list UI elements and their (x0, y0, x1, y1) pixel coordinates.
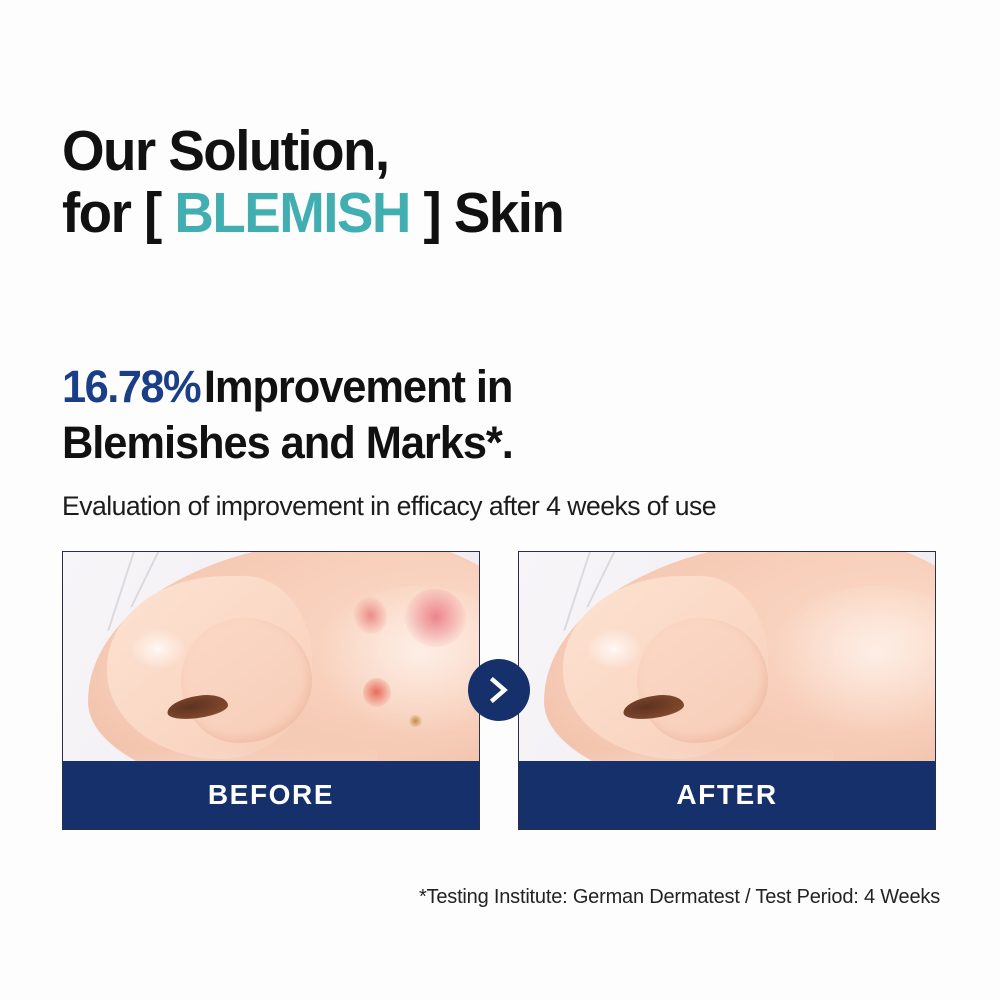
blemish-mark (363, 678, 391, 707)
chevron-right-icon (487, 677, 511, 703)
after-photo (519, 552, 935, 763)
before-label: BEFORE (208, 779, 334, 811)
stat-headline: 16.78%Improvement in Blemishes and Marks… (62, 359, 911, 471)
stat-line-2: Blemishes and Marks*. (62, 415, 911, 471)
after-panel: AFTER (518, 551, 936, 830)
blemish-mark (409, 715, 421, 727)
stat-percentage: 16.78% (62, 361, 200, 412)
before-panel: BEFORE (62, 551, 480, 830)
headline-suffix: ] Skin (410, 181, 563, 245)
after-label-band: AFTER (519, 761, 935, 829)
nose-highlight (130, 628, 186, 670)
subtitle: Evaluation of improvement in efficacy af… (62, 489, 949, 523)
promo-page: Our Solution, for [ BLEMISH ] Skin 16.78… (0, 0, 1000, 1000)
before-photo (63, 552, 479, 763)
comparison-arrow-badge (468, 659, 530, 721)
headline-line-1: Our Solution, (62, 120, 907, 182)
headline-highlight-blemish: BLEMISH (174, 181, 410, 245)
cheek-highlight (768, 586, 935, 738)
footnote: *Testing Institute: German Dermatest / T… (419, 884, 940, 910)
stat-line-1: 16.78%Improvement in (62, 359, 911, 415)
nose-ala (181, 618, 311, 744)
headline-prefix: for [ (62, 181, 174, 245)
before-after-comparison: BEFORE (62, 551, 938, 830)
stat-line-1-text: Improvement in (204, 361, 512, 412)
headline-line-2: for [ BLEMISH ] Skin (62, 182, 907, 244)
before-label-band: BEFORE (63, 761, 479, 829)
page-title: Our Solution, for [ BLEMISH ] Skin (62, 120, 907, 244)
nose-ala (637, 618, 767, 744)
nose-highlight (586, 628, 642, 670)
after-label: AFTER (676, 779, 777, 811)
